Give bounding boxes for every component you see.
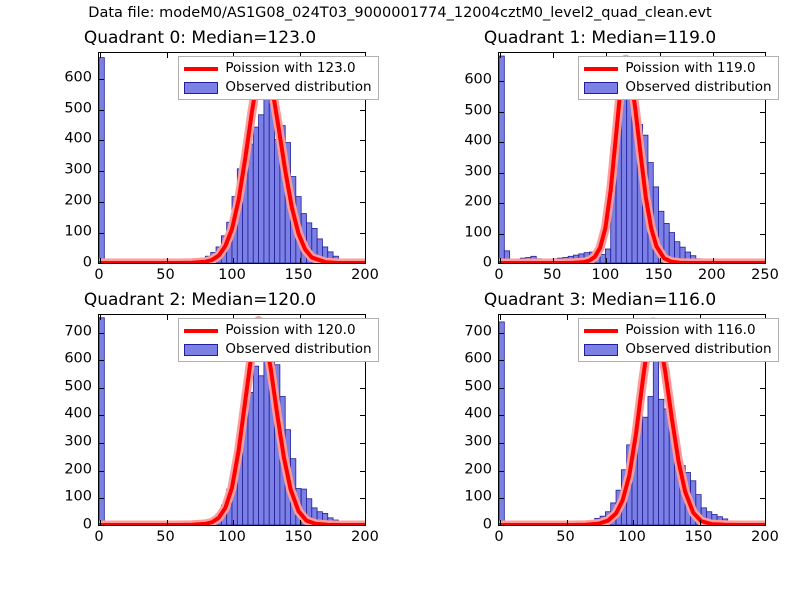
y-tick: [499, 173, 504, 174]
x-tick-label: 150: [685, 530, 713, 545]
x-tick: [167, 258, 168, 263]
legend-label-observed: Observed distribution: [225, 342, 371, 357]
legend-label-poisson: Poission with 120.0: [225, 323, 355, 338]
y-tick: [360, 498, 365, 499]
y-tick-label: 0: [0, 256, 92, 271]
y-tick-label: 700: [400, 324, 492, 339]
y-tick: [99, 471, 104, 472]
patch-swatch-icon: [584, 82, 618, 94]
subplot-title: Quadrant 1: Median=119.0: [400, 28, 800, 48]
subplot-quadrant-3: Quadrant 3: Median=116.0 050100150200010…: [400, 290, 800, 590]
x-tick-label: 250: [751, 268, 779, 283]
y-tick: [99, 140, 104, 141]
legend-item-observed: Observed distribution: [184, 79, 371, 96]
x-tick: [500, 53, 501, 58]
y-tick-label: 600: [400, 352, 492, 367]
y-tick: [760, 234, 765, 235]
x-tick-label: 150: [285, 530, 313, 545]
x-tick: [553, 258, 554, 263]
x-tick-label: 50: [556, 530, 574, 545]
y-tick: [499, 112, 504, 113]
y-tick-label: 400: [400, 407, 492, 422]
y-tick: [360, 171, 365, 172]
x-tick: [233, 520, 234, 525]
x-tick-label: 0: [494, 268, 503, 283]
x-tick-label: 0: [494, 530, 503, 545]
y-tick-label: 200: [0, 462, 92, 477]
y-tick: [99, 498, 104, 499]
x-tick: [700, 520, 701, 525]
legend-label-poisson: Poission with 116.0: [625, 323, 755, 338]
y-tick: [499, 203, 504, 204]
legend-item-poisson: Poission with 119.0: [584, 60, 771, 77]
y-tick: [360, 388, 365, 389]
legend-label-observed: Observed distribution: [225, 80, 371, 95]
y-tick: [760, 388, 765, 389]
x-tick-label: 50: [543, 268, 561, 283]
y-tick: [360, 110, 365, 111]
y-tick: [499, 142, 504, 143]
line-swatch-icon: [584, 329, 618, 333]
y-tick-label: 600: [400, 73, 492, 88]
y-tick-label: 300: [0, 163, 92, 178]
x-tick: [660, 258, 661, 263]
x-tick: [567, 315, 568, 320]
x-tick-label: 150: [645, 268, 673, 283]
y-tick: [360, 415, 365, 416]
x-tick-label: 100: [218, 530, 246, 545]
x-tick: [567, 520, 568, 525]
y-tick: [99, 333, 104, 334]
legend-item-observed: Observed distribution: [584, 79, 771, 96]
y-tick: [99, 171, 104, 172]
y-tick: [499, 443, 504, 444]
subplot-quadrant-0: Quadrant 0: Median=123.0 050100150200010…: [0, 28, 400, 300]
y-tick-label: 400: [400, 134, 492, 149]
y-tick: [499, 360, 504, 361]
y-tick-label: 400: [0, 132, 92, 147]
y-tick-label: 200: [400, 462, 492, 477]
y-tick-label: 300: [0, 435, 92, 450]
y-tick: [760, 203, 765, 204]
subplot-title: Quadrant 3: Median=116.0: [400, 290, 800, 310]
x-tick: [167, 520, 168, 525]
x-tick: [713, 258, 714, 263]
legend-item-poisson: Poission with 123.0: [184, 60, 371, 77]
x-tick: [633, 520, 634, 525]
x-tick-label: 50: [156, 268, 174, 283]
y-tick-label: 500: [0, 101, 92, 116]
y-tick: [499, 234, 504, 235]
x-tick: [100, 53, 101, 58]
y-tick: [99, 233, 104, 234]
y-tick-label: 100: [0, 225, 92, 240]
legend-label-poisson: Poission with 119.0: [625, 61, 755, 76]
x-tick-label: 200: [698, 268, 726, 283]
line-swatch-icon: [584, 67, 618, 71]
y-tick: [499, 388, 504, 389]
figure-suptitle: Data file: modeM0/AS1G08_024T03_90000017…: [0, 4, 800, 22]
x-tick: [100, 258, 101, 263]
legend: Poission with 116.0Observed distribution: [578, 318, 778, 362]
x-tick-label: 100: [218, 268, 246, 283]
y-tick: [760, 142, 765, 143]
x-tick: [167, 53, 168, 58]
line-swatch-icon: [184, 67, 218, 71]
y-tick: [499, 471, 504, 472]
y-tick: [99, 415, 104, 416]
y-tick: [360, 202, 365, 203]
y-tick-label: 200: [0, 194, 92, 209]
y-tick: [760, 415, 765, 416]
subplot-quadrant-1: Quadrant 1: Median=119.0 050100150200250…: [400, 28, 800, 300]
y-tick-label: 300: [400, 435, 492, 450]
x-tick: [606, 258, 607, 263]
y-tick: [499, 415, 504, 416]
x-tick-label: 100: [592, 268, 620, 283]
y-tick-label: 100: [400, 225, 492, 240]
legend: Poission with 120.0Observed distribution: [178, 318, 378, 362]
x-tick: [500, 315, 501, 320]
y-tick: [499, 81, 504, 82]
x-tick: [100, 520, 101, 525]
y-tick: [99, 388, 104, 389]
x-tick-label: 0: [94, 530, 103, 545]
y-tick: [360, 140, 365, 141]
x-tick: [553, 53, 554, 58]
legend-item-poisson: Poission with 116.0: [584, 322, 771, 339]
y-tick-label: 200: [400, 195, 492, 210]
y-tick: [360, 233, 365, 234]
x-tick: [300, 520, 301, 525]
y-tick: [760, 112, 765, 113]
x-tick-label: 200: [351, 268, 379, 283]
x-tick: [500, 258, 501, 263]
y-tick: [99, 202, 104, 203]
y-tick-label: 100: [400, 490, 492, 505]
y-tick: [99, 360, 104, 361]
y-tick-label: 500: [400, 103, 492, 118]
y-tick-label: 700: [0, 324, 92, 339]
y-tick-label: 500: [0, 379, 92, 394]
y-tick-label: 300: [400, 164, 492, 179]
patch-swatch-icon: [584, 344, 618, 356]
y-tick-label: 500: [400, 379, 492, 394]
y-tick-label: 0: [400, 256, 492, 271]
y-tick-label: 0: [0, 518, 92, 533]
y-tick: [360, 443, 365, 444]
y-tick: [760, 173, 765, 174]
legend-item-observed: Observed distribution: [584, 341, 771, 358]
legend: Poission with 123.0Observed distribution: [178, 56, 378, 100]
y-tick: [499, 498, 504, 499]
x-tick: [233, 258, 234, 263]
x-tick: [500, 520, 501, 525]
subplot-title: Quadrant 2: Median=120.0: [0, 290, 400, 310]
y-tick: [499, 333, 504, 334]
y-tick: [760, 498, 765, 499]
legend-label-poisson: Poission with 123.0: [225, 61, 355, 76]
y-tick: [99, 79, 104, 80]
x-tick-label: 50: [156, 530, 174, 545]
subplot-title: Quadrant 0: Median=123.0: [0, 28, 400, 48]
patch-swatch-icon: [184, 344, 218, 356]
x-tick-label: 200: [351, 530, 379, 545]
x-tick-label: 150: [285, 268, 313, 283]
x-tick: [300, 258, 301, 263]
y-tick-label: 600: [0, 70, 92, 85]
y-tick: [760, 443, 765, 444]
y-tick-label: 400: [0, 407, 92, 422]
patch-swatch-icon: [184, 82, 218, 94]
legend: Poission with 119.0Observed distribution: [578, 56, 778, 100]
y-tick-label: 100: [0, 490, 92, 505]
subplot-quadrant-2: Quadrant 2: Median=120.0 050100150200010…: [0, 290, 400, 590]
y-tick-label: 0: [400, 518, 492, 533]
legend-item-poisson: Poission with 120.0: [184, 322, 371, 339]
legend-label-observed: Observed distribution: [625, 80, 771, 95]
y-tick: [99, 110, 104, 111]
line-swatch-icon: [184, 329, 218, 333]
x-tick-label: 200: [751, 530, 779, 545]
figure-canvas: Data file: modeM0/AS1G08_024T03_90000017…: [0, 0, 800, 600]
x-tick: [167, 315, 168, 320]
y-tick: [360, 471, 365, 472]
legend-label-observed: Observed distribution: [625, 342, 771, 357]
x-tick-label: 0: [94, 268, 103, 283]
y-tick: [760, 471, 765, 472]
legend-item-observed: Observed distribution: [184, 341, 371, 358]
y-tick-label: 600: [0, 352, 92, 367]
x-tick: [100, 315, 101, 320]
y-tick: [99, 443, 104, 444]
x-tick-label: 100: [618, 530, 646, 545]
